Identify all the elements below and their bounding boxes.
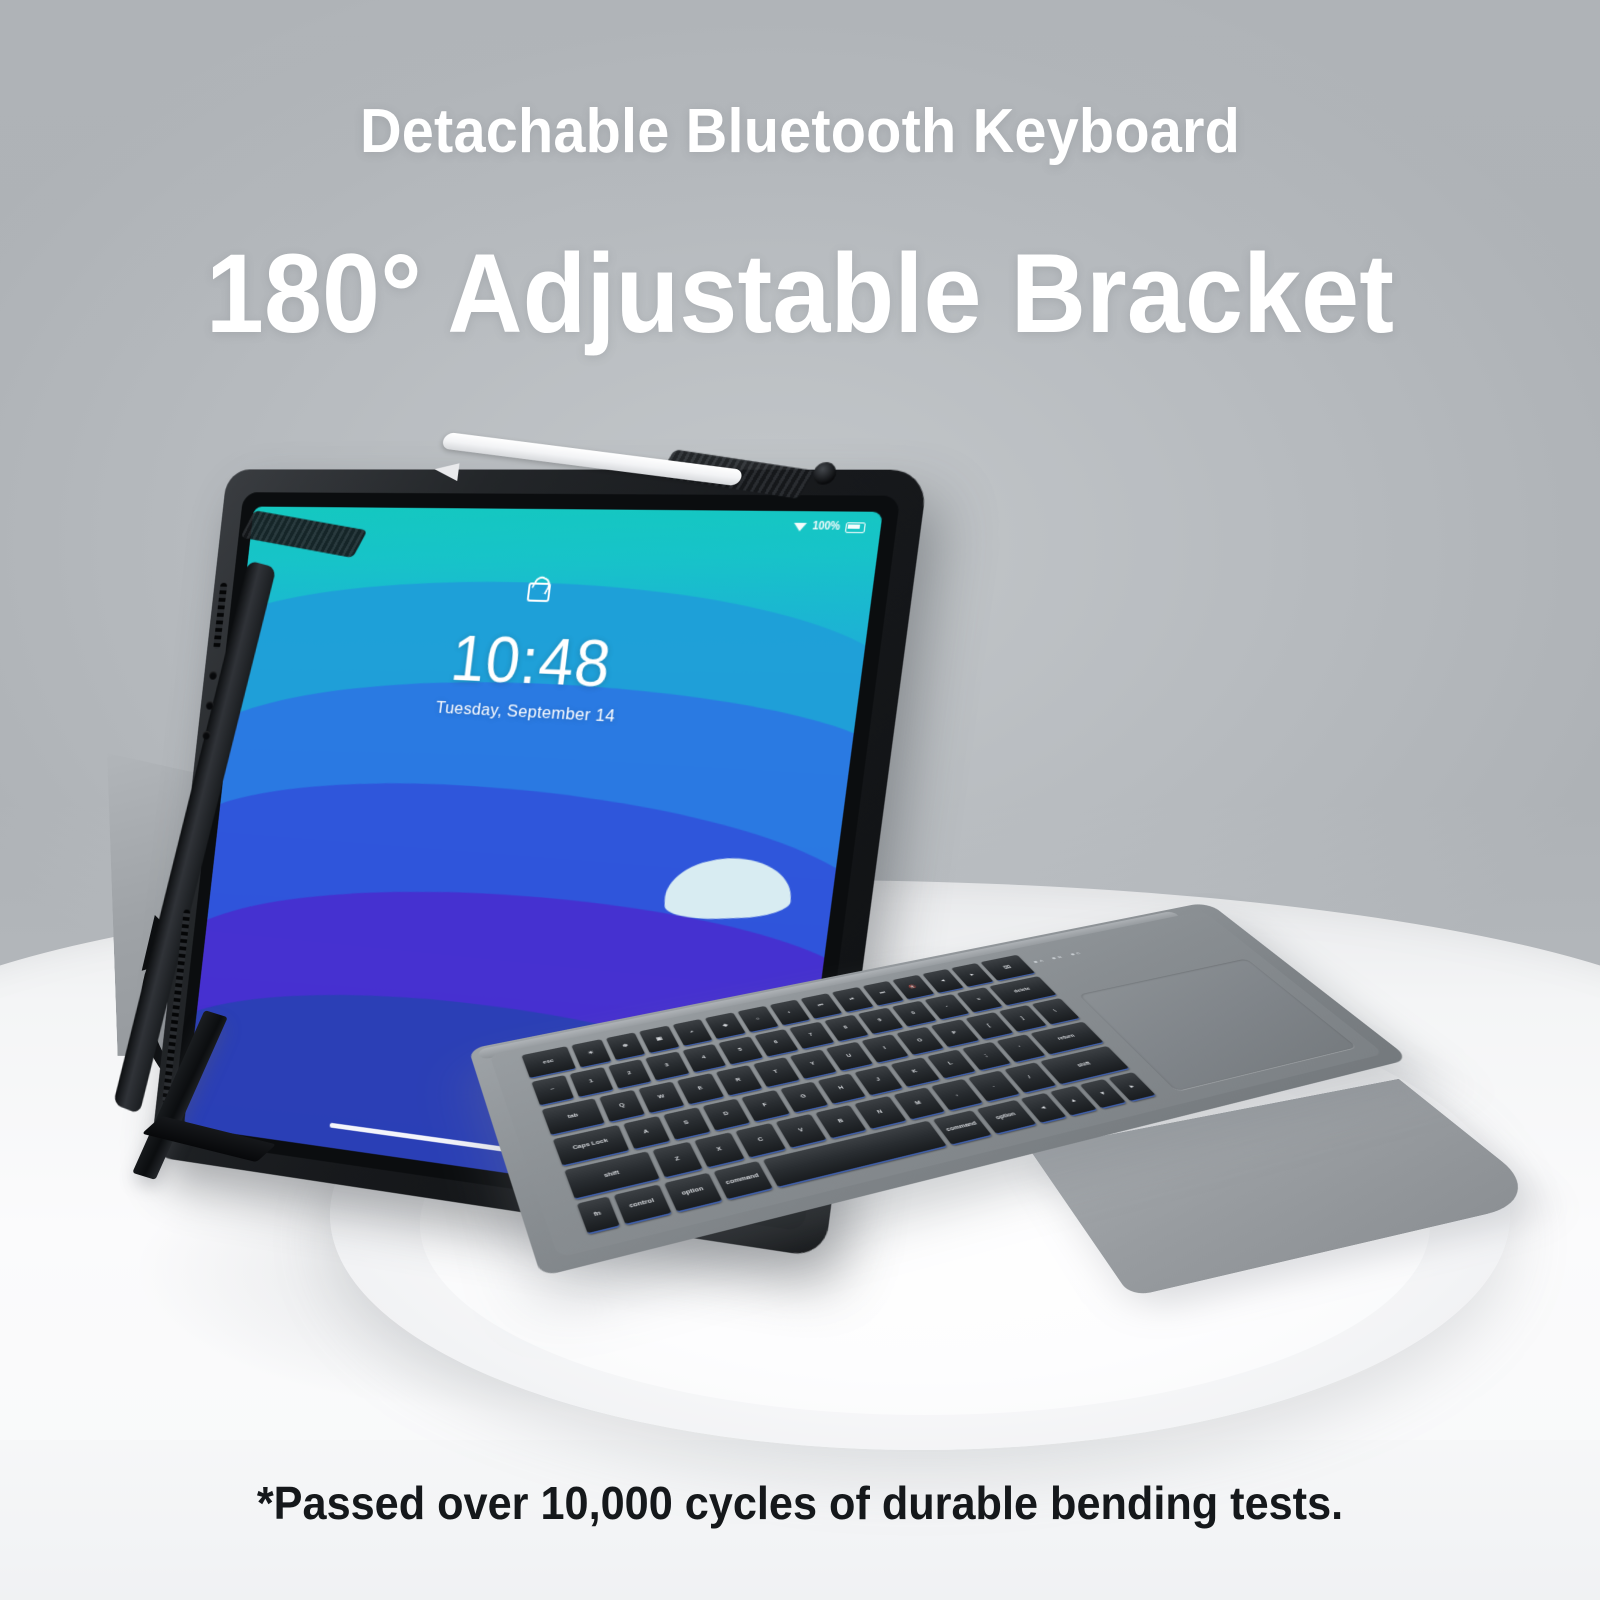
battery-full-icon <box>845 522 866 533</box>
key-option[interactable]: option <box>664 1172 723 1213</box>
key-q[interactable]: Q <box>599 1090 645 1123</box>
key-command[interactable]: command <box>714 1161 774 1201</box>
battery-led: C <box>1070 952 1082 957</box>
battery-percent-label: 100% <box>812 521 841 533</box>
key--[interactable]: ⌕ <box>672 1019 713 1047</box>
volume-up-button[interactable] <box>209 671 218 680</box>
unlocked-padlock-icon <box>526 582 551 602</box>
apple-pencil-tip <box>433 460 459 481</box>
status-led-group: A B C <box>1033 952 1082 964</box>
detachable-bluetooth-keyboard: esc☀❄▣⌕◈☼◐⏮⏯⏭🔇◂▸⌧~1234567890-=deletetabQ… <box>470 1000 1480 1430</box>
product-banner: Detachable Bluetooth Keyboard 180° Adjus… <box>0 0 1600 1600</box>
caps-lock-led: A <box>1033 960 1045 965</box>
key--[interactable]: ❄ <box>605 1032 645 1060</box>
status-bar: 100% <box>793 521 866 534</box>
key-2[interactable]: 2 <box>608 1059 652 1090</box>
key-3[interactable]: 3 <box>645 1051 689 1081</box>
key-r[interactable]: R <box>715 1065 762 1096</box>
footnote: *Passed over 10,000 cycles of durable be… <box>48 1476 1552 1530</box>
key--[interactable]: ▣ <box>639 1026 679 1054</box>
bluetooth-led: B <box>1052 956 1064 961</box>
key-1[interactable]: 1 <box>570 1067 614 1098</box>
key-4[interactable]: 4 <box>682 1044 727 1074</box>
key-w[interactable]: W <box>639 1081 685 1113</box>
key--[interactable]: ☀ <box>571 1039 611 1068</box>
key-5[interactable]: 5 <box>718 1036 763 1065</box>
wifi-icon <box>794 522 808 531</box>
key-z[interactable]: Z <box>653 1142 704 1179</box>
key-a[interactable]: A <box>623 1116 671 1151</box>
key-e[interactable]: E <box>677 1073 724 1105</box>
headline-primary: Detachable Bluetooth Keyboard <box>56 96 1544 167</box>
key--[interactable]: ~ <box>531 1075 575 1107</box>
headline-secondary: 180° Adjustable Bracket <box>56 236 1544 352</box>
key-d[interactable]: D <box>702 1098 751 1132</box>
key-x[interactable]: X <box>694 1132 745 1168</box>
speaker-grille-top <box>213 583 227 649</box>
key-fn[interactable]: fn <box>577 1196 620 1235</box>
key-s[interactable]: S <box>663 1107 711 1141</box>
rear-camera-cutout <box>811 461 839 487</box>
key-control[interactable]: control <box>613 1184 672 1226</box>
